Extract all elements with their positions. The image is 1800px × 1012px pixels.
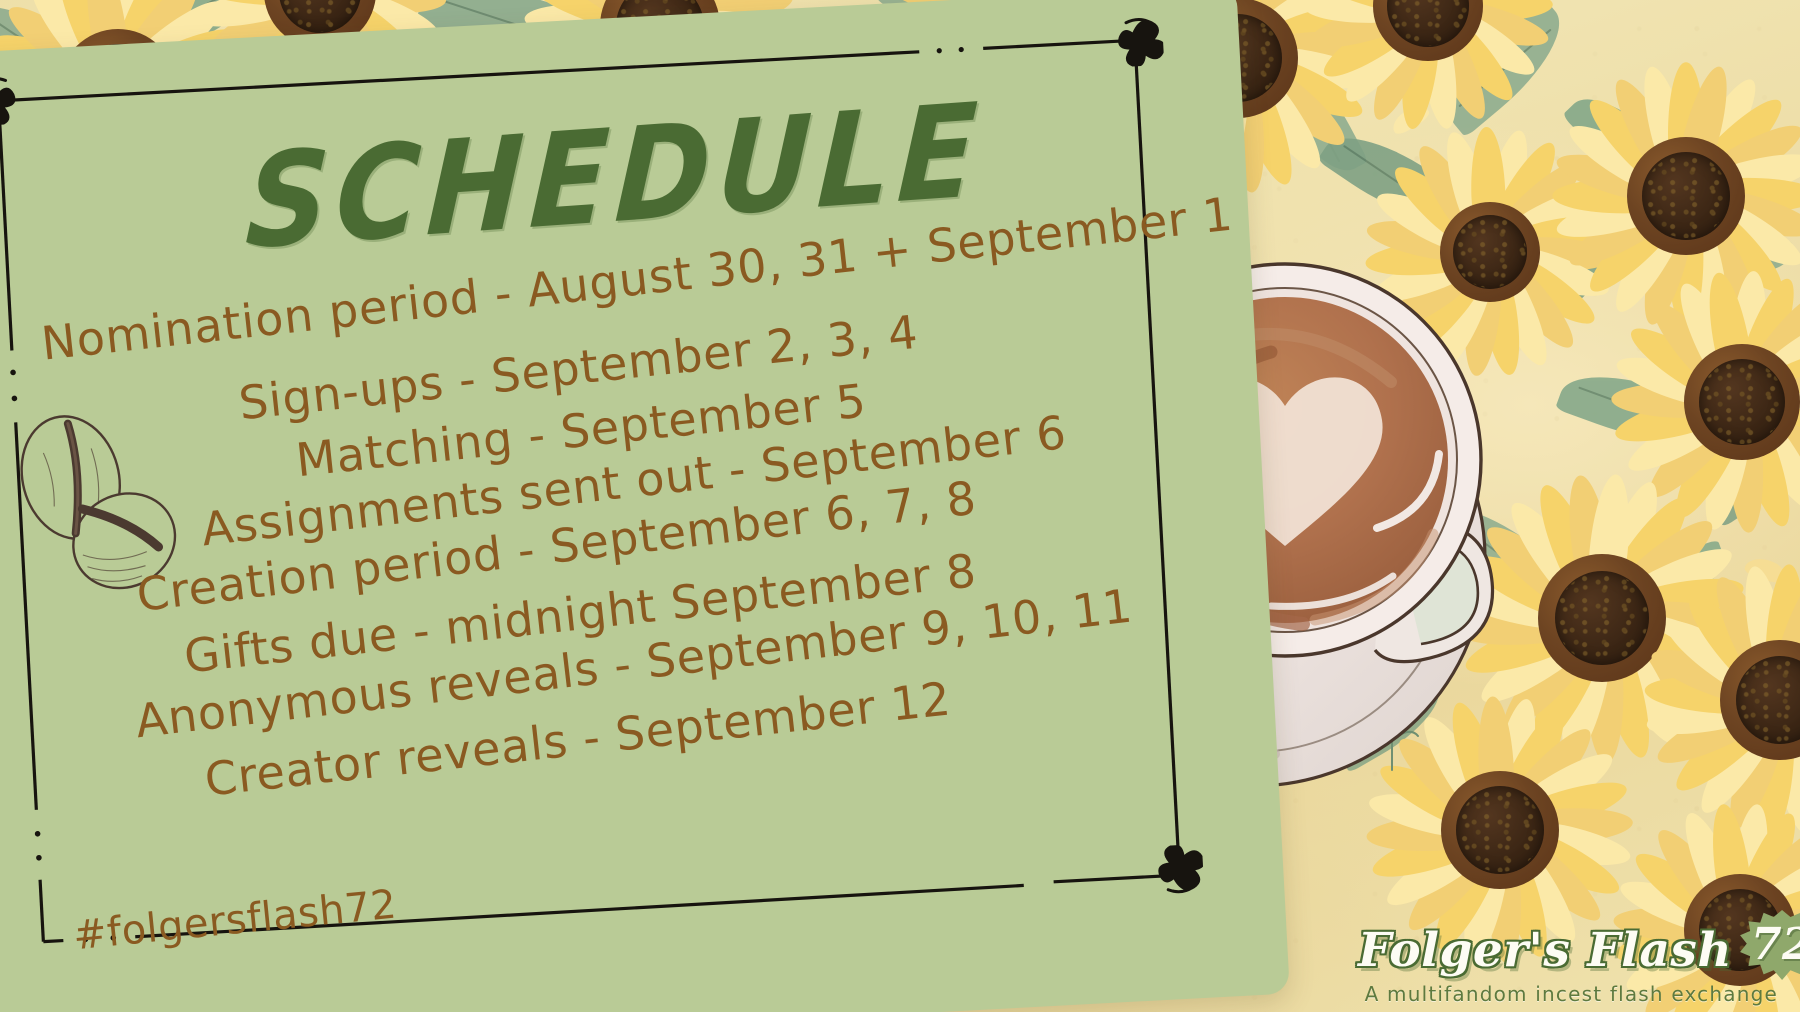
- schedule-card: SCHEDULE Nomination period - August 30, …: [0, 0, 1290, 1012]
- sunflower-center: [1627, 137, 1745, 255]
- logo-number-badge: 72: [1740, 910, 1800, 980]
- logo-tagline: A multifandom incest flash exchange: [1358, 982, 1778, 1006]
- sunflower-icon: [1568, 78, 1800, 314]
- poster-canvas: SCHEDULE Nomination period - August 30, …: [0, 0, 1800, 1012]
- sunflower-icon: [1318, 0, 1538, 116]
- schedule-list: Nomination period - August 30, 31 + Sept…: [0, 0, 1290, 1012]
- brand-logo: Folger's Flash 72 A multifandom incest f…: [1358, 910, 1778, 1002]
- logo-name-row: Folger's Flash 72: [1358, 910, 1778, 980]
- logo-name: Folger's Flash: [1358, 923, 1732, 978]
- sunflower-center: [1441, 771, 1559, 889]
- sunflower-center: [1684, 344, 1800, 460]
- logo-number: 72: [1740, 910, 1800, 980]
- sunflower-icon: [1660, 580, 1800, 820]
- sunflower-center: [1538, 554, 1666, 682]
